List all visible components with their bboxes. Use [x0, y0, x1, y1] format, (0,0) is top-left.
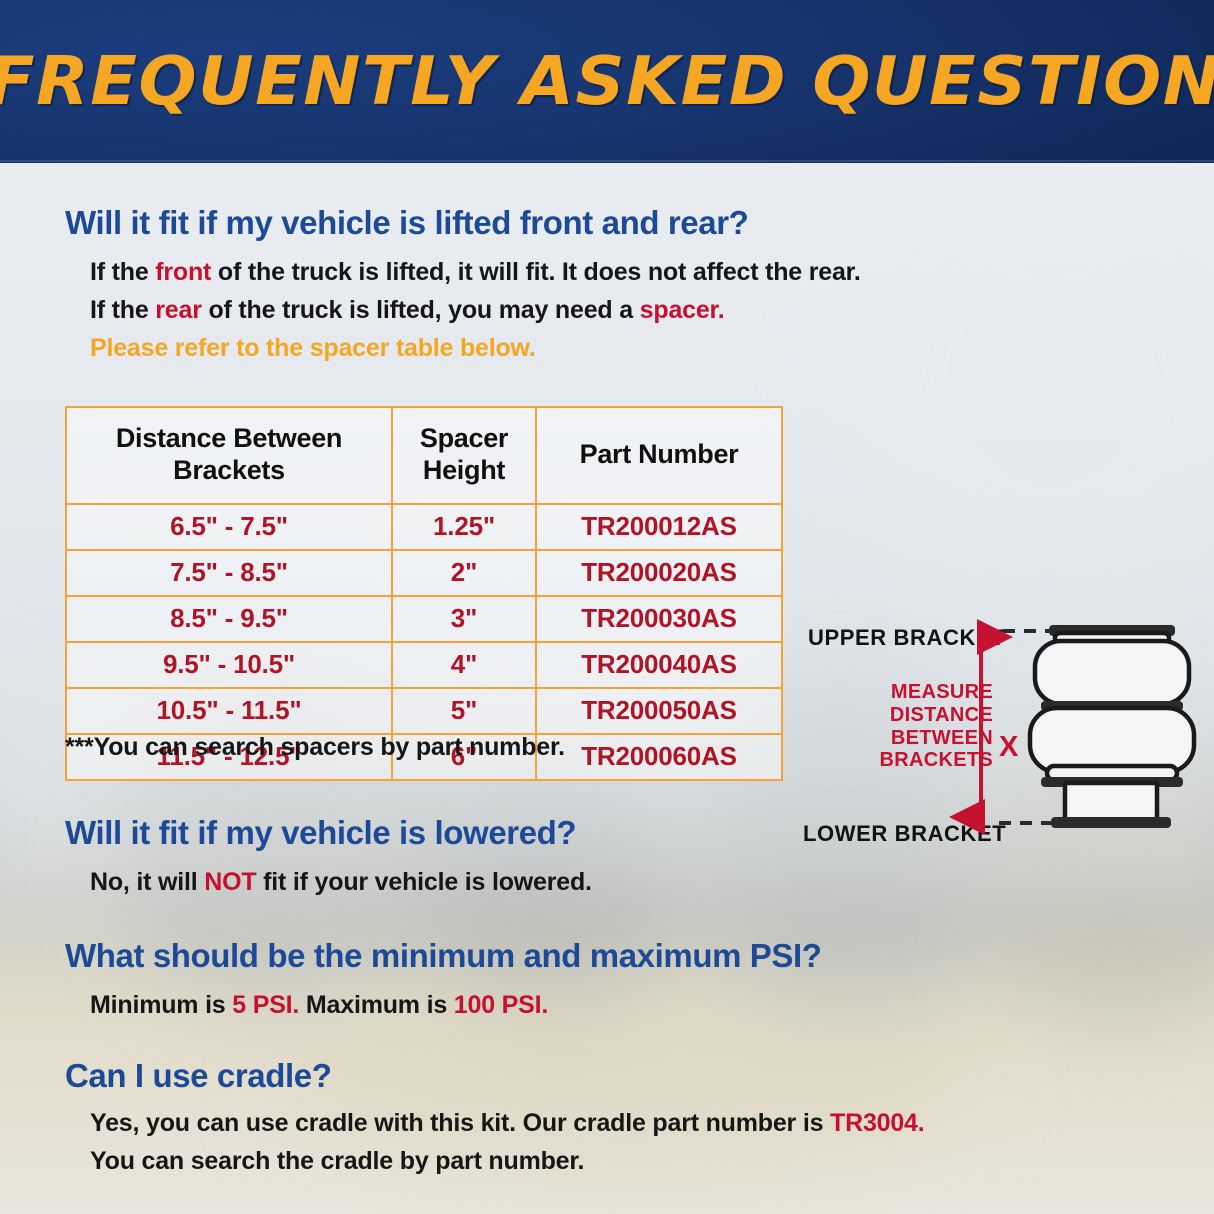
cell-spacer-height: 2": [392, 550, 536, 596]
faq-answer-1-line-3: Please refer to the spacer table below.: [90, 331, 536, 366]
cell-part-number: TR200030AS: [536, 596, 782, 642]
answer-highlight: 5 PSI.: [232, 991, 299, 1019]
air-spring-body: [1030, 625, 1194, 828]
table-row: 9.5" - 10.5" 4" TR200040AS: [66, 642, 782, 688]
cell-part-number: TR200050AS: [536, 688, 782, 734]
cell-spacer-height: 3": [392, 596, 536, 642]
faq-question-3: What should be the minimum and maximum P…: [65, 938, 822, 975]
answer-highlight: spacer.: [640, 296, 725, 324]
faq-answer-3-line-1: Minimum is 5 PSI. Maximum is 100 PSI.: [90, 988, 548, 1023]
column-header-part-number: Part Number: [536, 407, 782, 504]
answer-text: No, it will: [90, 868, 204, 896]
faq-answer-4-line-1: Yes, you can use cradle with this kit. O…: [90, 1106, 925, 1141]
answer-text: If the: [90, 258, 155, 286]
answer-text: fit if your vehicle is lowered.: [256, 868, 591, 896]
answer-text: of the truck is lifted, it will fit. It …: [211, 258, 860, 286]
page-header: FREQUENTLY ASKED QUESTIONS: [0, 0, 1214, 163]
cell-part-number: TR200060AS: [536, 734, 782, 780]
spacer-table: Distance Between Brackets Spacer Height …: [65, 406, 783, 781]
table-row: 8.5" - 9.5" 3" TR200030AS: [66, 596, 782, 642]
answer-highlight: rear: [155, 296, 201, 324]
faq-content: Will it fit if my vehicle is lifted fron…: [0, 163, 1214, 1214]
table-row: 7.5" - 8.5" 2" TR200020AS: [66, 550, 782, 596]
bracket-measurement-diagram: UPPER BRACKET LOWER BRACKET MEASURE DIST…: [785, 453, 1205, 703]
faq-question-2: Will it fit if my vehicle is lowered?: [65, 815, 576, 852]
faq-answer-1-line-2: If the rear of the truck is lifted, you …: [90, 293, 724, 328]
faq-answer-4-line-2: You can search the cradle by part number…: [90, 1144, 584, 1179]
answer-text: Minimum is: [90, 991, 232, 1019]
page-title: FREQUENTLY ASKED QUESTIONS: [0, 48, 1214, 115]
cell-part-number: TR200040AS: [536, 642, 782, 688]
cell-spacer-height: 5": [392, 688, 536, 734]
answer-highlight: front: [155, 258, 211, 286]
column-header-distance: Distance Between Brackets: [66, 407, 392, 504]
cell-distance: 7.5" - 8.5": [66, 550, 392, 596]
cell-distance: 6.5" - 7.5": [66, 504, 392, 550]
cell-part-number: TR200020AS: [536, 550, 782, 596]
answer-text: Yes, you can use cradle with this kit. O…: [90, 1109, 830, 1137]
answer-highlight: NOT: [204, 868, 256, 896]
table-row: 6.5" - 7.5" 1.25" TR200012AS: [66, 504, 782, 550]
cell-spacer-height: 1.25": [392, 504, 536, 550]
spacer-table-note: ***You can search spacers by part number…: [65, 730, 565, 765]
answer-text: Maximum is: [299, 991, 454, 1019]
answer-text: of the truck is lifted, you may need a: [202, 296, 640, 324]
answer-highlight: TR3004.: [830, 1109, 925, 1137]
cell-distance: 8.5" - 9.5": [66, 596, 392, 642]
table-row: 10.5" - 11.5" 5" TR200050AS: [66, 688, 782, 734]
air-spring-illustration: [785, 613, 1205, 863]
faq-page: FREQUENTLY ASKED QUESTIONS Will it fit i…: [0, 0, 1214, 1214]
faq-question-4: Can I use cradle?: [65, 1058, 331, 1095]
faq-answer-2-line-1: No, it will NOT fit if your vehicle is l…: [90, 865, 592, 900]
cell-spacer-height: 4": [392, 642, 536, 688]
answer-highlight: 100 PSI.: [454, 991, 548, 1019]
table-header-row: Distance Between Brackets Spacer Height …: [66, 407, 782, 504]
cell-part-number: TR200012AS: [536, 504, 782, 550]
column-header-spacer-height: Spacer Height: [392, 407, 536, 504]
cell-distance: 10.5" - 11.5": [66, 688, 392, 734]
faq-answer-1-line-1: If the front of the truck is lifted, it …: [90, 255, 861, 290]
faq-question-1: Will it fit if my vehicle is lifted fron…: [65, 205, 748, 242]
cell-distance: 9.5" - 10.5": [66, 642, 392, 688]
answer-text: If the: [90, 296, 155, 324]
